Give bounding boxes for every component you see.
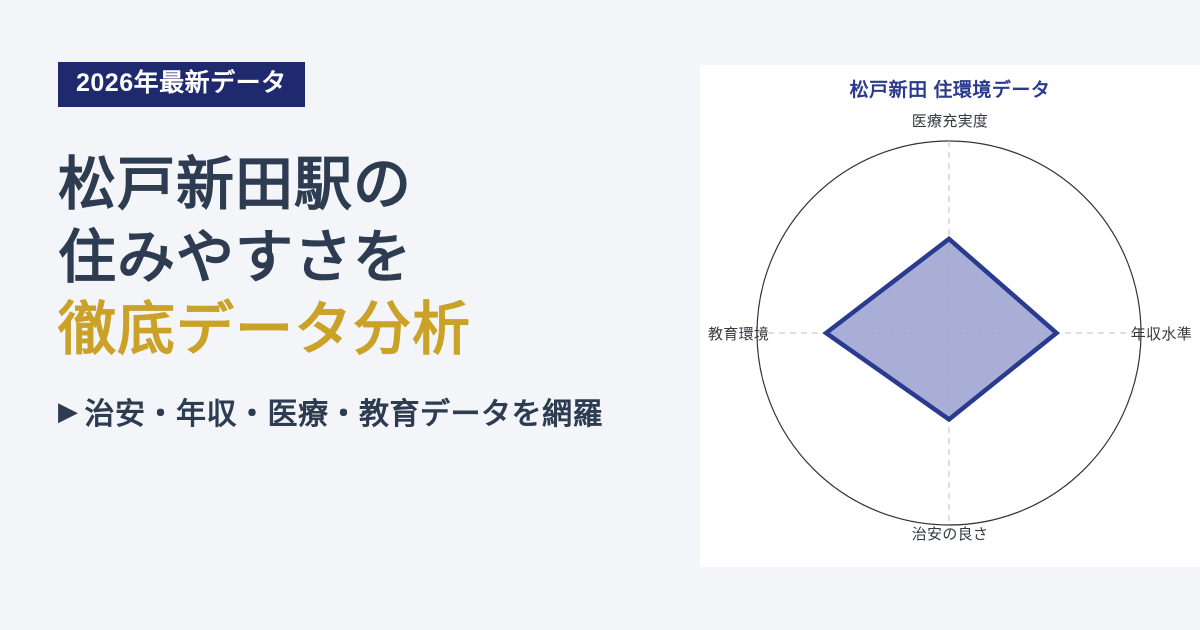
page-title: 松戸新田駅の 住みやすさを 徹底データ分析: [58, 149, 700, 367]
radar-chart-svg: [700, 65, 1200, 567]
radar-axis-label-left: 教育環境: [708, 323, 769, 344]
radar-data-polygon: [826, 239, 1056, 419]
text-column: 2026年最新データ 松戸新田駅の 住みやすさを 徹底データ分析 ▶ 治安・年収…: [0, 0, 700, 630]
radar-chart: 医療充実度 年収水準 治安の良さ 教育環境: [700, 65, 1200, 567]
status-badge: 2026年最新データ: [58, 62, 305, 107]
radar-axis-label-bottom: 治安の良さ: [700, 523, 1200, 544]
subtitle-label: 治安・年収・医療・教育データを網羅: [85, 389, 604, 433]
subtitle: ▶ 治安・年収・医療・教育データを網羅: [58, 389, 700, 433]
chart-panel: 松戸新田 住環境データ 医療充実度 年収水準 治安の良さ 教育環境: [700, 65, 1200, 567]
infographic-page: 2026年最新データ 松戸新田駅の 住みやすさを 徹底データ分析 ▶ 治安・年収…: [0, 0, 1200, 630]
triangle-right-icon: ▶: [58, 398, 79, 424]
page-title-line-3-accent: 徹底データ分析: [58, 294, 700, 367]
radar-axis-label-top: 医療充実度: [700, 110, 1200, 131]
radar-axis-label-right: 年収水準: [1131, 323, 1192, 344]
page-title-line-1: 松戸新田駅の: [58, 149, 700, 222]
page-title-line-2: 住みやすさを: [58, 222, 700, 295]
